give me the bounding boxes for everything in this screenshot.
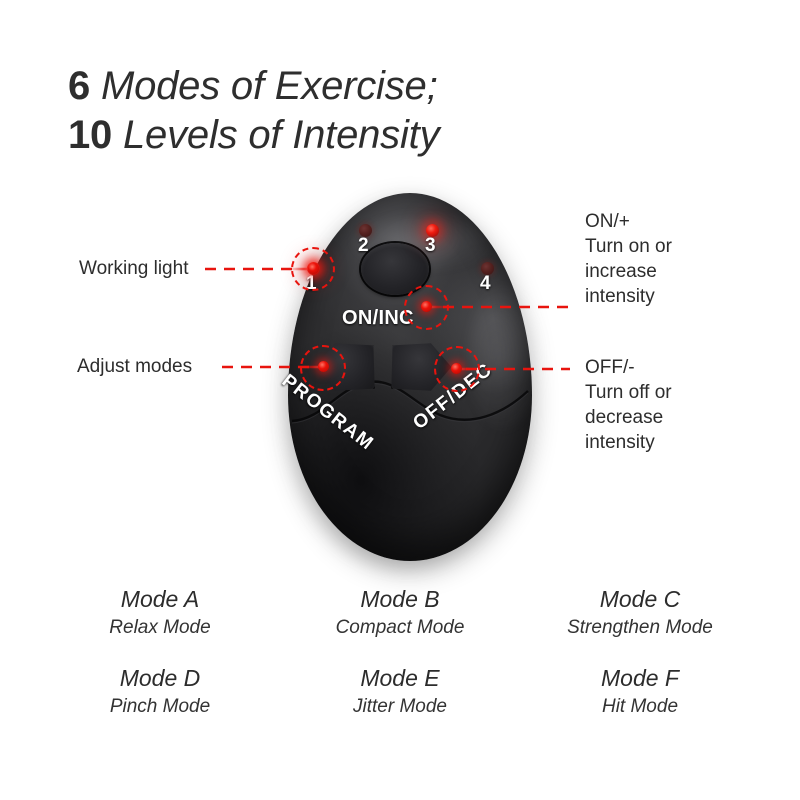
callout-off-minus: OFF/- Turn off or decrease intensity <box>585 355 765 455</box>
title-line-2-number: 10 <box>68 113 112 157</box>
mode-d-name: Mode D <box>40 663 280 693</box>
led-number-4: 4 <box>480 273 491 295</box>
callout-on-plus: ON/+ Turn on or increase intensity <box>585 209 765 309</box>
mode-e-name: Mode E <box>280 663 520 693</box>
mode-cell-f: Mode F Hit Mode <box>520 641 760 720</box>
mode-e-sub: Jitter Mode <box>280 693 520 720</box>
mode-c-sub: Strengthen Mode <box>520 614 760 641</box>
mode-c-name: Mode C <box>520 584 760 614</box>
mode-b-name: Mode B <box>280 584 520 614</box>
led-number-2: 2 <box>358 235 369 257</box>
mode-a-sub: Relax Mode <box>40 614 280 641</box>
mode-d-sub: Pinch Mode <box>40 693 280 720</box>
center-power-button[interactable] <box>361 243 429 295</box>
title-line-1: 6 Modes of Exercise; <box>68 62 688 111</box>
callout-adjust-modes: Adjust modes <box>77 354 222 379</box>
modes-row-2: Mode D Pinch Mode Mode E Jitter Mode Mod… <box>40 641 760 720</box>
mode-cell-e: Mode E Jitter Mode <box>280 641 520 720</box>
modes-grid: Mode A Relax Mode Mode B Compact Mode Mo… <box>40 578 760 720</box>
mode-f-sub: Hit Mode <box>520 693 760 720</box>
infographic-canvas: 6 Modes of Exercise; 10 Levels of Intens… <box>0 0 800 800</box>
mode-a-name: Mode A <box>40 584 280 614</box>
callout-working-light: Working light <box>79 256 209 281</box>
title-line-1-number: 6 <box>68 64 90 108</box>
modes-row-1: Mode A Relax Mode Mode B Compact Mode Mo… <box>40 578 760 641</box>
led-number-1: 1 <box>306 273 317 295</box>
on-inc-label: ON/INC <box>342 307 414 330</box>
device-highlight-right <box>468 283 546 433</box>
title-line-2: 10 Levels of Intensity <box>68 111 688 160</box>
mode-b-sub: Compact Mode <box>280 614 520 641</box>
title-line-1-text: Modes of Exercise; <box>90 64 437 108</box>
title-line-2-text: Levels of Intensity <box>112 113 439 157</box>
mode-f-name: Mode F <box>520 663 760 693</box>
mode-cell-a: Mode A Relax Mode <box>40 578 280 641</box>
mode-cell-d: Mode D Pinch Mode <box>40 641 280 720</box>
device-illustration: 1 2 3 4 ON/INC PROGRAM OFF/DEC <box>262 185 542 575</box>
mode-cell-b: Mode B Compact Mode <box>280 578 520 641</box>
page-title: 6 Modes of Exercise; 10 Levels of Intens… <box>68 62 688 160</box>
led-number-3: 3 <box>425 235 436 257</box>
mode-cell-c: Mode C Strengthen Mode <box>520 578 760 641</box>
